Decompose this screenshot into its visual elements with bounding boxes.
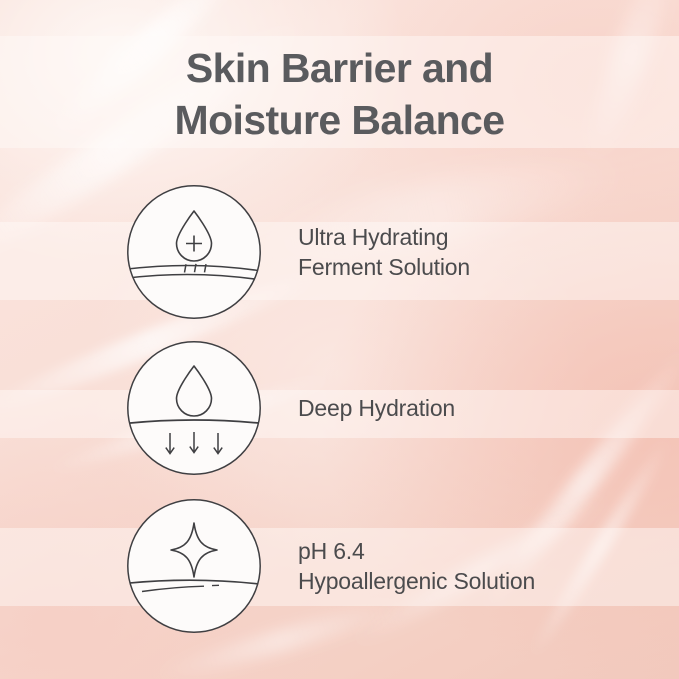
- feature-label-ph-hypoallergenic: pH 6.4 Hypoallergenic Solution: [298, 536, 535, 596]
- feature-label-deep-hydration: Deep Hydration: [298, 393, 455, 423]
- page-title-line-2: Moisture Balance: [0, 94, 679, 146]
- feature-row-ph-hypoallergenic: pH 6.4 Hypoallergenic Solution: [0, 496, 679, 636]
- page-title-line-1: Skin Barrier and: [0, 42, 679, 94]
- feature-label-line-1: Deep Hydration: [298, 393, 455, 423]
- feature-label-ultra-hydrating: Ultra Hydrating Ferment Solution: [298, 222, 470, 282]
- page-title: Skin Barrier and Moisture Balance: [0, 42, 679, 146]
- feature-label-line-1: pH 6.4: [298, 536, 535, 566]
- skincare-infographic-poster: Skin Barrier and Moisture Balance: [0, 0, 679, 679]
- feature-label-line-2: Hypoallergenic Solution: [298, 566, 535, 596]
- feature-label-line-1: Ultra Hydrating: [298, 222, 470, 252]
- feature-row-ultra-hydrating: Ultra Hydrating Ferment Solution: [0, 182, 679, 322]
- droplet-down-arrows-icon: [126, 340, 262, 476]
- sparkle-smooth-skin-icon: [126, 498, 262, 634]
- feature-row-deep-hydration: Deep Hydration: [0, 338, 679, 478]
- feature-label-line-2: Ferment Solution: [298, 252, 470, 282]
- droplet-plus-barrier-icon: [126, 184, 262, 320]
